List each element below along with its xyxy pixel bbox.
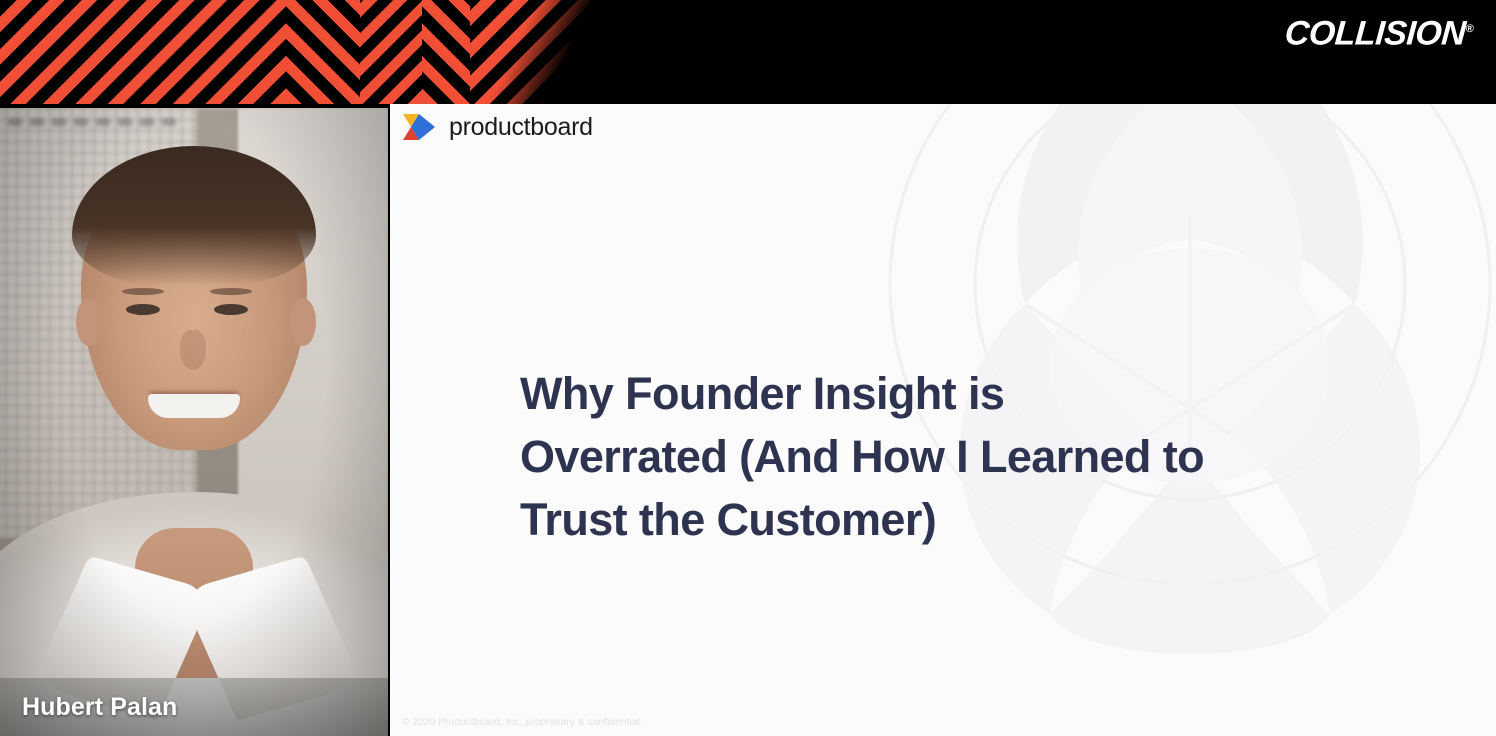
slide-title-line-1: Why Founder Insight is [520, 362, 1350, 425]
slide-title: Why Founder Insight is Overrated (And Ho… [520, 362, 1350, 551]
productboard-mark-icon [402, 112, 436, 142]
stripe-pattern-a [0, 0, 286, 104]
slide-title-line-3: Trust the Customer) [520, 488, 1350, 551]
slide-title-line-2: Overrated (And How I Learned to [520, 425, 1350, 488]
productboard-wordmark: productboard [449, 113, 593, 142]
collision-banner: COLLISION® [0, 0, 1496, 104]
video-vignette [0, 108, 388, 736]
stripe-pattern-b [286, 0, 360, 104]
collision-logo-text: COLLISION [1284, 14, 1467, 52]
collision-logo: COLLISION® [1284, 9, 1476, 53]
presentation-stage: COLLISION® [0, 0, 1496, 736]
registered-trademark-icon: ® [1466, 23, 1475, 35]
stripe-pattern-e [470, 0, 620, 104]
slide-copyright-footer: © 2020 Productboard, Inc. proprietary & … [402, 717, 643, 728]
productboard-logo: productboard [402, 112, 593, 142]
presentation-slide: productboard Why Founder Insight is Over… [390, 104, 1496, 736]
stripe-pattern-c [360, 0, 422, 104]
speaker-name-label: Hubert Palan [0, 693, 177, 722]
speaker-video-tile[interactable]: Hubert Palan [0, 108, 388, 736]
content-area: Hubert Palan [0, 104, 1496, 736]
speaker-name-bar: Hubert Palan [0, 678, 388, 736]
